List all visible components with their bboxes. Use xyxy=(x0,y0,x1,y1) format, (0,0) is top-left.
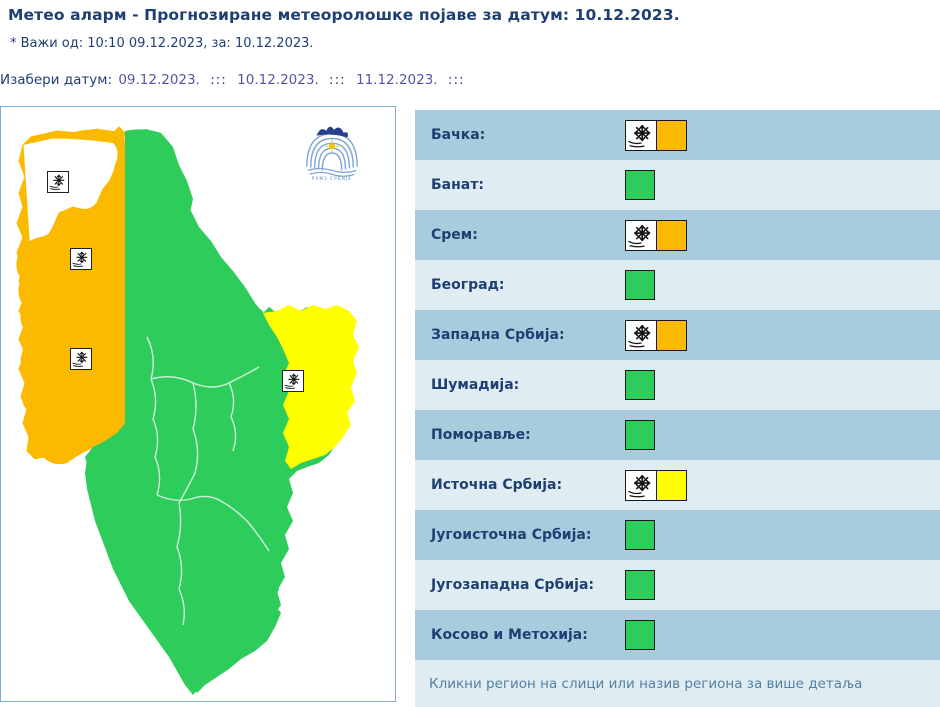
rhmz-logo: РХМЗ СРБИЈЕ xyxy=(303,122,361,184)
click-hint: Кликни регион на слици или назив региона… xyxy=(415,676,862,692)
alert-level-swatch xyxy=(656,120,687,151)
map-snow-wind-icon-4 xyxy=(282,370,304,392)
region-row-kosovo-i-metohija[interactable]: Косово и Метохија: xyxy=(415,610,940,660)
date-option-2[interactable]: 10.12.2023. xyxy=(237,72,319,88)
map-panel[interactable] xyxy=(0,106,396,702)
alert-level-swatch xyxy=(656,220,687,251)
region-row-srem[interactable]: Срем: xyxy=(415,210,940,260)
region-label-zapadna-srbija[interactable]: Западна Србија: xyxy=(415,327,625,343)
region-badge-backa xyxy=(625,120,687,151)
alert-level-swatch xyxy=(625,170,655,200)
region-label-srem[interactable]: Срем: xyxy=(415,227,625,243)
page-header: Метео аларм - Прогнозиране метеоролошке … xyxy=(0,0,940,100)
region-row-backa[interactable]: Бачка: xyxy=(415,110,940,160)
snow-wind-icon xyxy=(625,470,656,501)
alert-level-swatch xyxy=(625,520,655,550)
region-row-jugoistocna-srbija[interactable]: Југоисточна Србија: xyxy=(415,510,940,560)
alert-level-swatch xyxy=(656,470,687,501)
region-badge-beograd xyxy=(625,270,655,301)
snow-wind-icon xyxy=(625,220,656,251)
region-row-jugozapadna-srbija[interactable]: Југозападна Србија: xyxy=(415,560,940,610)
date-separator-2: ::: xyxy=(329,72,346,88)
region-badge-jugozapadna-srbija xyxy=(625,570,655,601)
snow-wind-icon xyxy=(625,120,656,151)
region-row-zapadna-srbija[interactable]: Западна Србија: xyxy=(415,310,940,360)
snow-wind-icon xyxy=(625,320,656,351)
alert-level-swatch xyxy=(656,320,687,351)
snow-wind-icon xyxy=(71,249,91,269)
validity-note: * Важи од: 10:10 09.12.2023, за: 10.12.2… xyxy=(10,36,314,51)
alert-level-swatch xyxy=(625,570,655,600)
region-label-jugoistocna-srbija[interactable]: Југоисточна Србија: xyxy=(415,527,625,543)
region-badge-srem xyxy=(625,220,687,251)
date-picker: Изабери датум: 09.12.2023. ::: 10.12.202… xyxy=(0,72,469,88)
snow-wind-icon xyxy=(48,172,68,192)
region-row-istocna-srbija[interactable]: Источна Србија: xyxy=(415,460,940,510)
date-separator-3: ::: xyxy=(448,72,465,88)
region-label-backa[interactable]: Бачка: xyxy=(415,127,625,143)
serbia-alert-map[interactable] xyxy=(1,107,395,701)
rhmz-logo-icon: РХМЗ СРБИЈЕ xyxy=(303,122,361,184)
region-badge-pomoravlje xyxy=(625,420,655,451)
alert-level-swatch xyxy=(625,620,655,650)
region-badge-sumadija xyxy=(625,370,655,401)
snow-wind-icon xyxy=(283,371,303,391)
page-title: Метео аларм - Прогнозиране метеоролошке … xyxy=(8,6,680,24)
snow-wind-icon xyxy=(71,349,91,369)
map-snow-wind-icon-2 xyxy=(70,248,92,270)
region-row-sumadija[interactable]: Шумадија: xyxy=(415,360,940,410)
region-row-pomoravlje[interactable]: Поморавље: xyxy=(415,410,940,460)
region-label-jugozapadna-srbija[interactable]: Југозападна Србија: xyxy=(415,577,625,593)
region-label-kosovo-i-metohija[interactable]: Косово и Метохија: xyxy=(415,627,625,643)
region-label-istocna-srbija[interactable]: Источна Србија: xyxy=(415,477,625,493)
region-row-banat[interactable]: Банат: xyxy=(415,160,940,210)
region-badge-zapadna-srbija xyxy=(625,320,687,351)
region-label-beograd[interactable]: Београд: xyxy=(415,277,625,293)
map-snow-wind-icon-1 xyxy=(47,171,69,193)
region-label-pomoravlje[interactable]: Поморавље: xyxy=(415,427,625,443)
date-option-3[interactable]: 11.12.2023. xyxy=(356,72,438,88)
region-label-sumadija[interactable]: Шумадија: xyxy=(415,377,625,393)
date-picker-label: Изабери датум: xyxy=(0,72,112,88)
alert-level-swatch xyxy=(625,370,655,400)
region-badge-jugoistocna-srbija xyxy=(625,520,655,551)
alert-level-swatch xyxy=(625,270,655,300)
region-list: Бачка: Банат: Срем: xyxy=(415,110,940,707)
map-snow-wind-icon-3 xyxy=(70,348,92,370)
date-separator-1: ::: xyxy=(210,72,227,88)
list-footer: Кликни регион на слици или назив региона… xyxy=(415,660,940,707)
rhmz-logo-caption: РХМЗ СРБИЈЕ xyxy=(312,176,352,181)
alert-level-swatch xyxy=(625,420,655,450)
region-label-banat[interactable]: Банат: xyxy=(415,177,625,193)
region-badge-banat xyxy=(625,170,655,201)
region-row-beograd[interactable]: Београд: xyxy=(415,260,940,310)
region-badge-kosovo-i-metohija xyxy=(625,620,655,651)
date-option-1[interactable]: 09.12.2023. xyxy=(118,72,200,88)
region-badge-istocna-srbija xyxy=(625,470,687,501)
